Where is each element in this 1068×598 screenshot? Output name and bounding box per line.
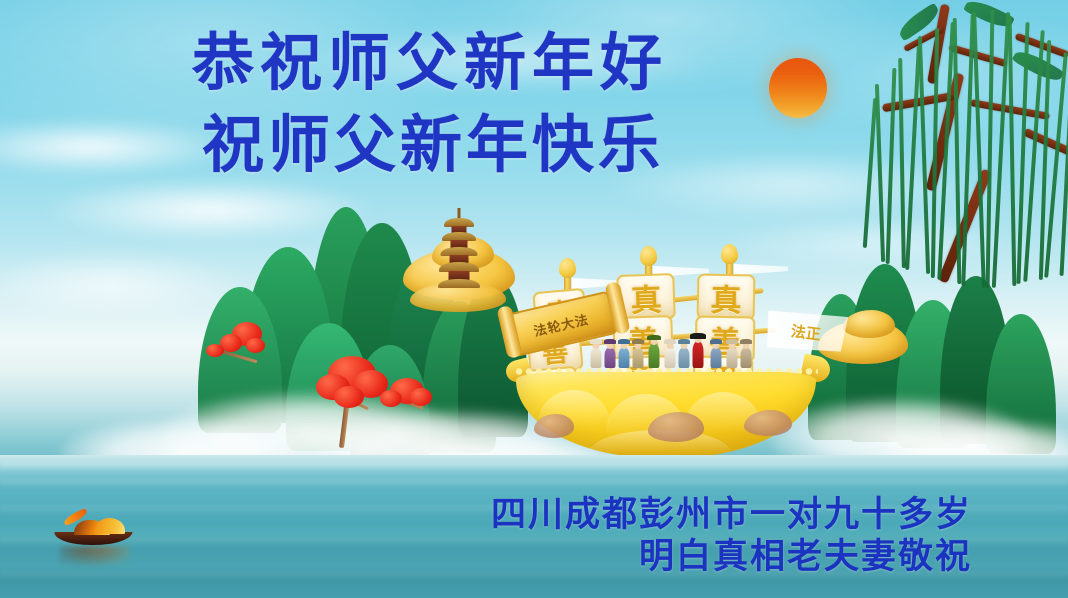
lotus-petal bbox=[606, 394, 686, 452]
gold-cloud-motif bbox=[843, 310, 895, 338]
mist-cloud bbox=[60, 418, 310, 490]
boat-oar bbox=[63, 508, 89, 526]
weeping-willow bbox=[862, 0, 1068, 308]
mountain-range-left bbox=[190, 205, 550, 455]
lotus-ship: 真 真 真 善 善 善 忍 忍 忍 法轮大法 法正 bbox=[498, 244, 838, 464]
willow-branch bbox=[970, 99, 1050, 120]
gold-cloud-motif bbox=[432, 236, 494, 270]
cloud-wisp bbox=[0, 250, 250, 320]
willow-frond bbox=[931, 28, 939, 278]
cloud-wisp bbox=[40, 178, 380, 242]
side-pennant: 法正 bbox=[764, 307, 848, 356]
willow-frond bbox=[918, 36, 930, 274]
willow-branch bbox=[938, 168, 992, 283]
sail-zhen: 真 bbox=[697, 273, 756, 320]
greeting-headline: 恭祝师父新年好 祝师父新年快乐 bbox=[190, 26, 750, 182]
willow-frond bbox=[1008, 16, 1017, 286]
willow-frond bbox=[1016, 22, 1029, 284]
mast-finial bbox=[640, 246, 657, 266]
sun-icon bbox=[769, 58, 827, 118]
small-boat bbox=[50, 512, 140, 556]
lotus-petal bbox=[590, 430, 730, 464]
willow-frond bbox=[992, 12, 1010, 288]
willow-branch bbox=[926, 73, 965, 192]
headline-line-1: 恭祝师父新年好 bbox=[190, 26, 750, 100]
sail-ren: 忍 bbox=[522, 366, 579, 411]
willow-branch bbox=[927, 4, 950, 84]
mist-cloud bbox=[880, 420, 1068, 492]
willow-branch bbox=[1023, 128, 1068, 156]
willow-frond bbox=[1039, 40, 1051, 280]
wave-line bbox=[0, 480, 1068, 486]
mast-finial bbox=[721, 244, 738, 264]
gold-cloud-motif bbox=[410, 282, 506, 312]
boat-reflection bbox=[60, 546, 130, 568]
willow-frond bbox=[875, 84, 885, 262]
hull-cloud-motif bbox=[744, 410, 792, 436]
willow-frond bbox=[937, 22, 954, 280]
willow-frond bbox=[961, 14, 974, 286]
willow-frond bbox=[986, 10, 995, 288]
willow-frond bbox=[1023, 30, 1045, 282]
sail-ren: 忍 bbox=[609, 355, 670, 401]
willow-leaf-cluster bbox=[1011, 46, 1064, 86]
plum-blossom-tree bbox=[314, 352, 410, 450]
willow-leaf-cluster bbox=[963, 0, 1015, 32]
boat-hull bbox=[54, 532, 133, 545]
boat-cabin-front bbox=[95, 518, 125, 534]
sail-ren: 忍 bbox=[693, 355, 754, 400]
deck-figure bbox=[590, 342, 601, 368]
willow-frond bbox=[972, 12, 986, 288]
boat-cabin bbox=[74, 520, 110, 535]
mist-cloud bbox=[160, 392, 460, 478]
hull-cloud-motif bbox=[534, 414, 574, 438]
willow-frond bbox=[1044, 52, 1068, 277]
willow-branch bbox=[1014, 33, 1068, 59]
deck-figure bbox=[678, 342, 689, 368]
willow-frond bbox=[898, 58, 906, 268]
plum-blossom-tree bbox=[206, 318, 278, 380]
greeting-signature: 四川成都彭州市一对九十多岁 明白真相老夫妻敬祝 bbox=[491, 494, 972, 578]
willow-branch bbox=[903, 26, 945, 52]
sail-zhen: 真 bbox=[616, 273, 676, 321]
willow-leaf-cluster bbox=[895, 3, 942, 42]
headline-line-2: 祝师父新年快乐 bbox=[190, 108, 750, 182]
greeting-card: 真 真 真 善 善 善 忍 忍 忍 法轮大法 法正 bbox=[0, 0, 1068, 598]
plum-blossom-tree bbox=[380, 376, 444, 432]
willow-frond bbox=[1060, 66, 1068, 276]
prow-right bbox=[800, 353, 833, 384]
pagoda bbox=[437, 208, 481, 286]
signature-line-1: 四川成都彭州市一对九十多岁 bbox=[491, 494, 972, 536]
hull-cloud-motif bbox=[648, 412, 704, 442]
mast-finial bbox=[559, 258, 576, 278]
signature-line-2: 明白真相老夫妻敬祝 bbox=[491, 536, 972, 578]
willow-frond bbox=[953, 18, 962, 284]
willow-branch bbox=[948, 44, 1008, 67]
willow-frond bbox=[886, 68, 897, 264]
willow-frond bbox=[863, 98, 877, 248]
willow-frond bbox=[905, 46, 921, 270]
lotus-petal bbox=[684, 392, 762, 448]
willow-branch bbox=[882, 92, 956, 113]
